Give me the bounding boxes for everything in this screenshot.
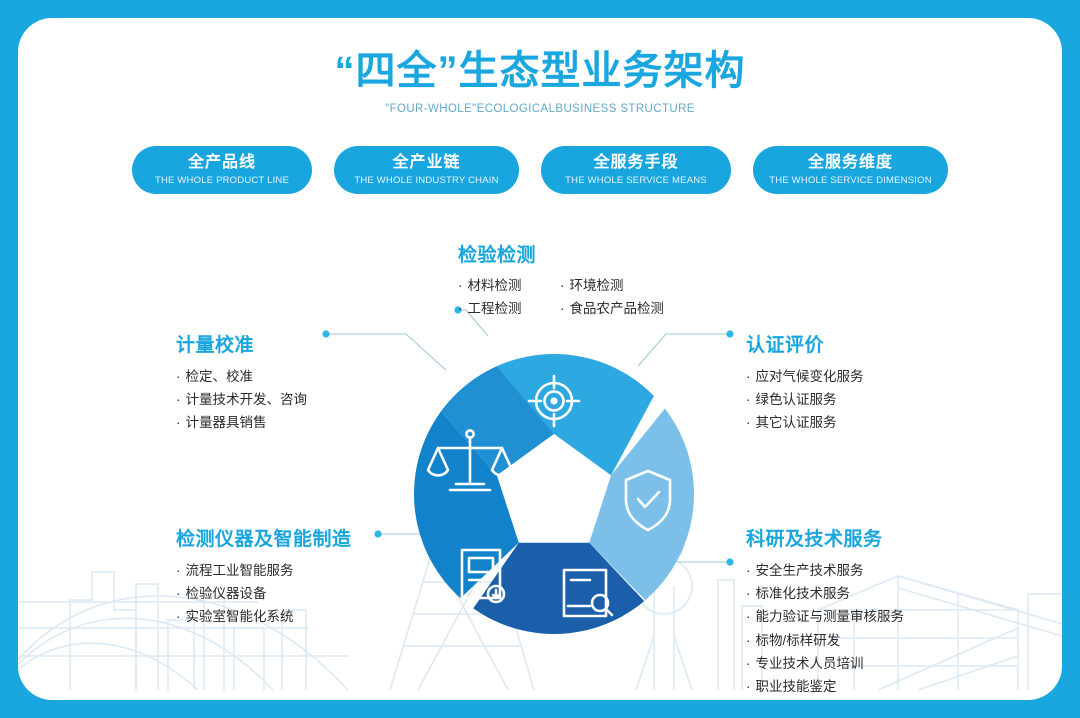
list-item: 绿色认证服务 bbox=[746, 388, 864, 411]
group-metrology: 计量校准 检定、校准 计量技术开发、咨询 计量器具销售 bbox=[176, 330, 307, 435]
list-item: 环境检测 bbox=[560, 274, 664, 297]
list-item: 工程检测 bbox=[458, 297, 542, 320]
pill-label-cn: 全产品线 bbox=[188, 154, 256, 172]
list-item: 计量器具销售 bbox=[176, 411, 307, 434]
pill-whole-service-dimension[interactable]: 全服务维度 THE WHOLE SERVICE DIMENSION bbox=[753, 146, 948, 194]
pill-label-en: THE WHOLE SERVICE DIMENSION bbox=[769, 175, 932, 186]
group-title-inspection: 检验检测 bbox=[458, 240, 664, 267]
title-block: “四全”生态型业务架构 "FOUR-WHOLE"ECOLOGICALBUSINE… bbox=[18, 46, 1062, 115]
connector-dot bbox=[322, 330, 329, 337]
list-item: 材料检测 bbox=[458, 274, 542, 297]
group-list-certification: 应对气候变化服务 绿色认证服务 其它认证服务 bbox=[746, 365, 864, 435]
list-item: 标物/标样研发 bbox=[746, 629, 904, 652]
group-list-research: 安全生产技术服务 标准化技术服务 能力验证与测量审核服务 标物/标样研发 专业技… bbox=[746, 559, 904, 698]
group-title-research: 科研及技术服务 bbox=[746, 524, 904, 551]
page-title: “四全”生态型业务架构 bbox=[18, 46, 1062, 96]
connector-dot bbox=[726, 330, 733, 337]
pill-label-cn: 全产业链 bbox=[392, 154, 460, 172]
group-list-inspection-col2: 环境检测 食品农产品检测 bbox=[560, 274, 664, 320]
group-title-certification: 认证评价 bbox=[746, 330, 864, 357]
list-item: 能力验证与测量审核服务 bbox=[746, 605, 904, 628]
pill-whole-service-means[interactable]: 全服务手段 THE WHOLE SERVICE MEANS bbox=[541, 146, 731, 194]
group-title-metrology: 计量校准 bbox=[176, 330, 307, 357]
list-item: 其它认证服务 bbox=[746, 411, 864, 434]
pill-row: 全产品线 THE WHOLE PRODUCT LINE 全产业链 THE WHO… bbox=[18, 146, 1062, 194]
group-certification: 认证评价 应对气候变化服务 绿色认证服务 其它认证服务 bbox=[746, 330, 864, 435]
connector-dot bbox=[726, 558, 733, 565]
group-list-instruments: 流程工业智能服务 检验仪器设备 实验室智能化系统 bbox=[176, 559, 352, 629]
connector-dot bbox=[374, 530, 381, 537]
list-item: 计量技术开发、咨询 bbox=[176, 388, 307, 411]
group-list-metrology: 检定、校准 计量技术开发、咨询 计量器具销售 bbox=[176, 365, 307, 435]
pill-whole-industry-chain[interactable]: 全产业链 THE WHOLE INDUSTRY CHAIN bbox=[334, 146, 519, 194]
group-list-inspection-col1: 材料检测 工程检测 bbox=[458, 274, 542, 320]
list-item: 实验室智能化系统 bbox=[176, 605, 352, 628]
page-frame: “四全”生态型业务架构 "FOUR-WHOLE"ECOLOGICALBUSINE… bbox=[0, 0, 1080, 718]
pill-label-cn: 全服务维度 bbox=[808, 154, 893, 172]
page-subtitle: "FOUR-WHOLE"ECOLOGICALBUSINESS STRUCTURE bbox=[18, 103, 1062, 115]
pentagon-donut-chart bbox=[414, 354, 694, 634]
group-instruments: 检测仪器及智能制造 流程工业智能服务 检验仪器设备 实验室智能化系统 bbox=[176, 524, 352, 629]
pill-whole-product-line[interactable]: 全产品线 THE WHOLE PRODUCT LINE bbox=[132, 146, 312, 194]
list-item: 安全生产技术服务 bbox=[746, 559, 904, 582]
group-inspection: 检验检测 材料检测 工程检测 环境检测 食品农产品检测 bbox=[458, 240, 664, 320]
list-item: 应对气候变化服务 bbox=[746, 365, 864, 388]
content-card: “四全”生态型业务架构 "FOUR-WHOLE"ECOLOGICALBUSINE… bbox=[18, 18, 1062, 700]
list-item: 食品农产品检测 bbox=[560, 297, 664, 320]
list-item: 流程工业智能服务 bbox=[176, 559, 352, 582]
list-item: 检定、校准 bbox=[176, 365, 307, 388]
pill-label-en: THE WHOLE INDUSTRY CHAIN bbox=[354, 175, 498, 186]
list-item: 专业技术人员培训 bbox=[746, 652, 904, 675]
group-research: 科研及技术服务 安全生产技术服务 标准化技术服务 能力验证与测量审核服务 标物/… bbox=[746, 524, 904, 698]
list-item: 标准化技术服务 bbox=[746, 582, 904, 605]
pill-label-en: THE WHOLE SERVICE MEANS bbox=[565, 175, 707, 186]
list-item: 职业技能鉴定 bbox=[746, 675, 904, 698]
pill-label-cn: 全服务手段 bbox=[593, 154, 678, 172]
group-title-instruments: 检测仪器及智能制造 bbox=[176, 524, 352, 551]
list-item: 检验仪器设备 bbox=[176, 582, 352, 605]
pill-label-en: THE WHOLE PRODUCT LINE bbox=[155, 175, 289, 186]
